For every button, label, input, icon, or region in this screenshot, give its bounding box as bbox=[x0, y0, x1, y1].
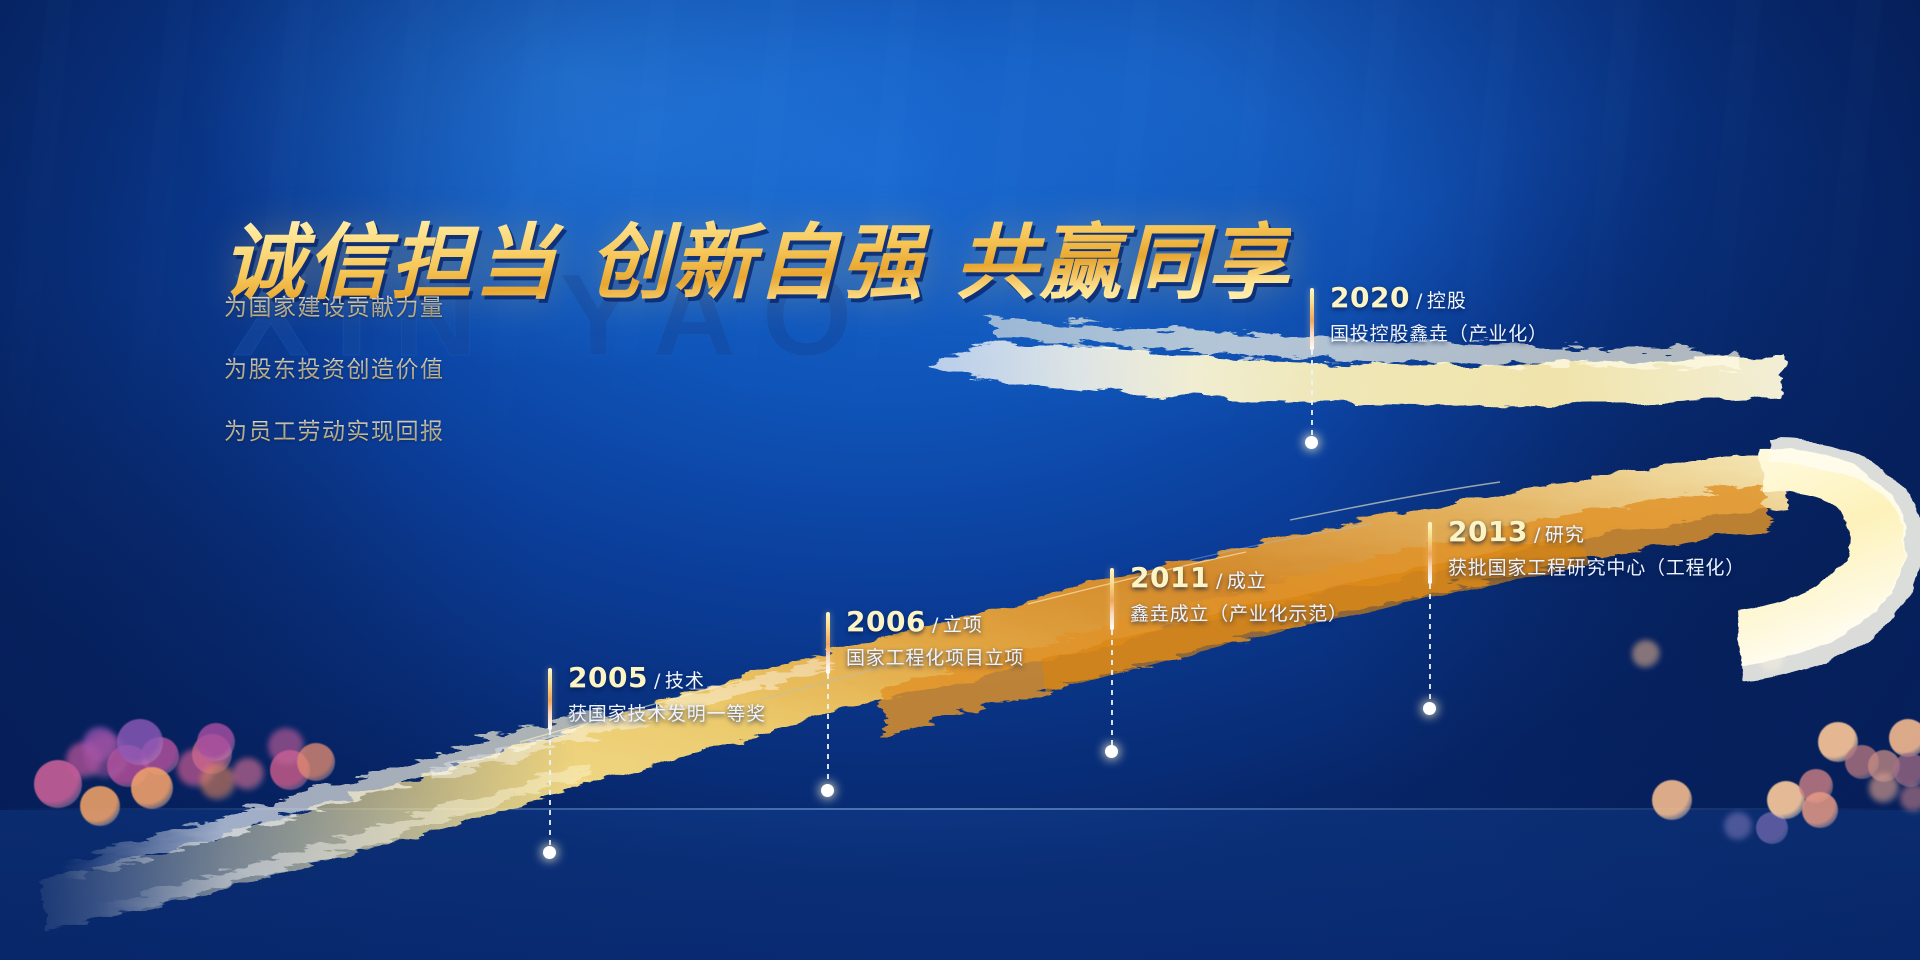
timeline-node-dot[interactable] bbox=[1105, 745, 1118, 758]
timeline-year: 2011/成立 bbox=[1130, 561, 1267, 594]
slogan-line-1: 为国家建设贡献力量 bbox=[224, 288, 445, 322]
timeline-separator: / bbox=[1416, 290, 1423, 312]
bokeh-dot bbox=[1893, 753, 1920, 787]
timeline-year: 2006/立项 bbox=[846, 605, 983, 638]
bokeh-dot bbox=[1889, 719, 1920, 757]
timeline-separator: / bbox=[1534, 524, 1541, 546]
bokeh-dot bbox=[1802, 792, 1838, 828]
timeline-year-value: 2006 bbox=[846, 605, 926, 638]
bokeh-dot bbox=[117, 719, 163, 765]
bokeh-dot bbox=[1652, 780, 1692, 820]
timeline-marker-bar bbox=[1110, 568, 1114, 630]
timeline-tag: 成立 bbox=[1227, 570, 1267, 592]
timeline-year: 2005/技术 bbox=[568, 661, 705, 694]
timeline-tag: 控股 bbox=[1427, 290, 1467, 312]
bokeh-dot bbox=[297, 743, 335, 781]
timeline-separator: / bbox=[1216, 570, 1223, 592]
timeline-marker-bar bbox=[548, 668, 552, 730]
slogan-line-3: 为员工劳动实现回报 bbox=[224, 412, 445, 446]
slogan-list: 为国家建设贡献力量 为股东投资创造价值 为员工劳动实现回报 bbox=[224, 288, 445, 474]
timeline-year: 2020/控股 bbox=[1330, 281, 1467, 314]
timeline-marker-bar bbox=[1428, 522, 1432, 584]
bokeh-dot bbox=[200, 764, 236, 800]
timeline-marker-bar bbox=[1310, 288, 1314, 350]
bokeh-dot bbox=[131, 767, 173, 809]
bokeh-dot bbox=[197, 723, 235, 761]
timeline-description: 获国家技术发明一等奖 bbox=[568, 699, 766, 726]
bokeh-dot bbox=[1724, 812, 1752, 840]
timeline-connector-line bbox=[1311, 350, 1313, 436]
timeline-node-dot[interactable] bbox=[1305, 436, 1318, 449]
timeline-tag: 技术 bbox=[665, 670, 705, 692]
timeline-marker-bar bbox=[826, 612, 830, 674]
timeline-description: 国家工程化项目立项 bbox=[846, 643, 1024, 670]
timeline-tag: 立项 bbox=[943, 614, 983, 636]
timeline-year-value: 2020 bbox=[1330, 281, 1410, 314]
timeline-node-dot[interactable] bbox=[543, 846, 556, 859]
bokeh-dot bbox=[1900, 784, 1920, 812]
timeline-year-value: 2005 bbox=[568, 661, 648, 694]
bokeh-dot bbox=[232, 758, 264, 790]
bokeh-dot bbox=[1632, 640, 1660, 668]
timeline-description: 国投控股鑫垚（产业化） bbox=[1330, 319, 1548, 346]
timeline-connector-line bbox=[1429, 584, 1431, 704]
timeline-separator: / bbox=[654, 670, 661, 692]
timeline-tag: 研究 bbox=[1545, 524, 1585, 546]
timeline-node-dot[interactable] bbox=[1423, 702, 1436, 715]
timeline-separator: / bbox=[932, 614, 939, 636]
slogan-line-2: 为股东投资创造价值 bbox=[224, 350, 445, 384]
timeline-description: 获批国家工程研究中心（工程化） bbox=[1448, 553, 1745, 580]
timeline-connector-line bbox=[549, 730, 551, 848]
bokeh-dot bbox=[80, 786, 120, 826]
timeline-year: 2013/研究 bbox=[1448, 515, 1585, 548]
timeline-connector-line bbox=[1111, 630, 1113, 747]
bokeh-dot bbox=[1760, 648, 1784, 672]
poster-canvas: XIN YAO bbox=[0, 0, 1920, 960]
bottom-band bbox=[0, 810, 1920, 960]
timeline-description: 鑫垚成立（产业化示范） bbox=[1130, 599, 1348, 626]
timeline-connector-line bbox=[827, 674, 829, 786]
timeline-year-value: 2013 bbox=[1448, 515, 1528, 548]
timeline-node-dot[interactable] bbox=[821, 784, 834, 797]
bottom-divider-line bbox=[0, 808, 1920, 810]
timeline-year-value: 2011 bbox=[1130, 561, 1210, 594]
